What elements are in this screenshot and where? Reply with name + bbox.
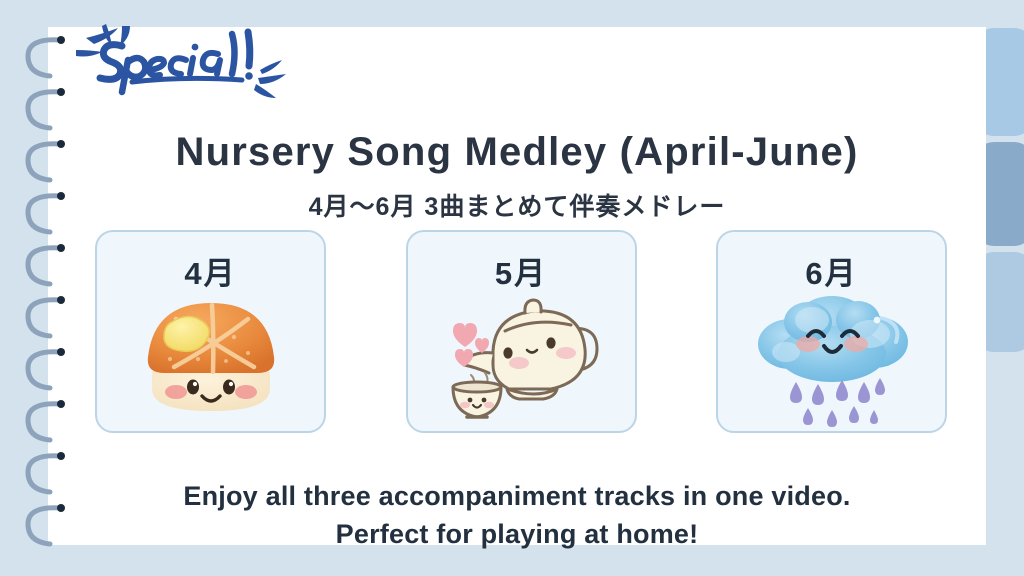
month-card-april[interactable]: 4月 [95, 230, 326, 433]
special-badge-icon [60, 22, 290, 102]
page-title: Nursery Song Medley (April-June) [48, 130, 986, 175]
month-card-june[interactable]: 6月 [716, 230, 947, 433]
spiral-binding [16, 24, 76, 552]
footer-line-1: Enjoy all three accompaniment tracks in … [48, 477, 986, 515]
bread-roll-with-butter-icon [97, 282, 324, 432]
month-card-may[interactable]: 5月 [406, 230, 637, 433]
page-subtitle: 4月〜6月 3曲まとめて伴奏メドレー [48, 187, 986, 223]
teapot-pouring-tea-icon [408, 282, 635, 432]
month-card-list: 4月 [95, 230, 947, 435]
rain-cloud-icon [718, 282, 945, 432]
footer-line-2: Perfect for playing at home! [48, 515, 986, 553]
footer-text: Enjoy all three accompaniment tracks in … [48, 477, 986, 553]
notebook-page: Nursery Song Medley (April-June) 4月〜6月 3… [48, 27, 986, 545]
